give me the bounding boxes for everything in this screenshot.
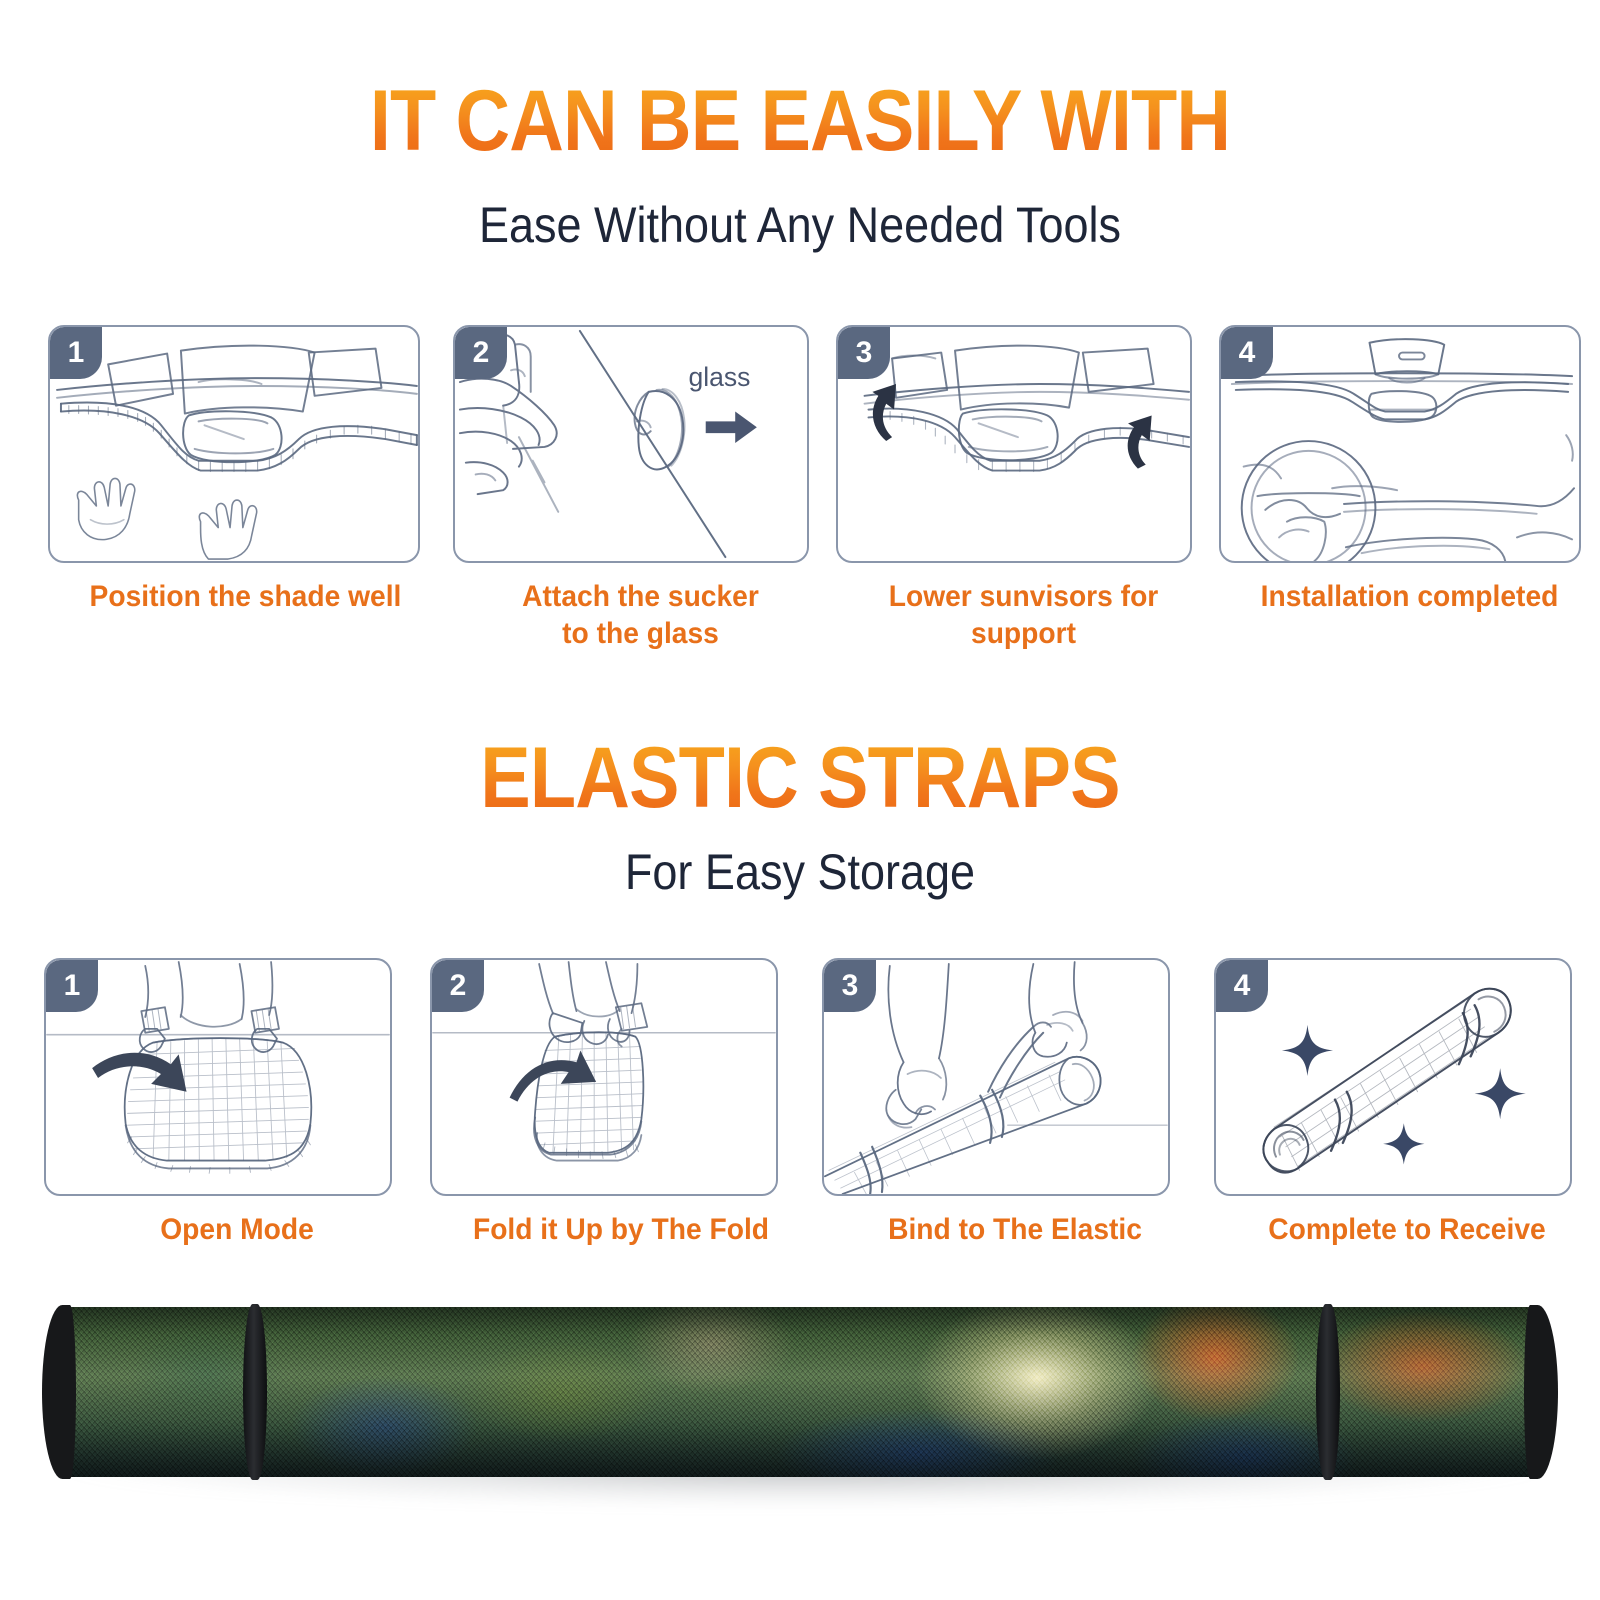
storage-step-3-badge: 3 bbox=[824, 960, 876, 1012]
install-step-4: 4 bbox=[1219, 325, 1600, 652]
storage-step-1-card: 1 bbox=[44, 958, 392, 1196]
installation-steps-row: 1 bbox=[0, 325, 1600, 652]
storage-step-1-caption: Open Mode bbox=[56, 1212, 419, 1249]
install-step-2-caption: Attach the sucker to the glass bbox=[464, 579, 817, 652]
product-elastic-strap-right bbox=[1316, 1304, 1340, 1480]
suction-cup-glass-illustration: glass bbox=[455, 327, 807, 561]
install-step-3-card: 3 bbox=[836, 325, 1192, 563]
storage-step-4: 4 bbox=[1214, 958, 1600, 1249]
storage-steps-row: 1 bbox=[0, 958, 1600, 1249]
storage-subhead: For Easy Storage bbox=[80, 843, 1520, 901]
install-step-3-caption: Lower sunvisors for support bbox=[847, 579, 1200, 652]
open-mode-illustration bbox=[46, 960, 390, 1194]
installation-headline: IT CAN BE EASILY WITH bbox=[96, 78, 1504, 164]
install-step-2-card: 2 bbox=[453, 325, 809, 563]
storage-step-4-caption: Complete to Receive bbox=[1226, 1212, 1589, 1249]
storage-step-4-card: 4 bbox=[1214, 958, 1572, 1196]
install-step-4-caption: Installation completed bbox=[1230, 579, 1588, 616]
fold-up-illustration bbox=[432, 960, 776, 1194]
storage-step-3: 3 bbox=[822, 958, 1208, 1249]
install-step-2: 2 bbox=[453, 325, 828, 652]
install-step-2-badge: 2 bbox=[455, 327, 507, 379]
product-elastic-strap-left bbox=[243, 1304, 267, 1480]
storage-step-2-card: 2 bbox=[430, 958, 778, 1196]
install-step-1: 1 bbox=[48, 325, 443, 652]
install-step-1-caption: Position the shade well bbox=[60, 579, 431, 616]
installation-subhead: Ease Without Any Needed Tools bbox=[80, 196, 1520, 254]
install-step-3-badge: 3 bbox=[838, 327, 890, 379]
install-step-3: 3 bbox=[836, 325, 1211, 652]
storage-step-2: 2 bbox=[430, 958, 812, 1249]
storage-step-4-badge: 4 bbox=[1216, 960, 1268, 1012]
bind-elastic-illustration bbox=[824, 960, 1168, 1194]
storage-step-3-card: 3 bbox=[822, 958, 1170, 1196]
product-end-cap-right bbox=[1524, 1305, 1558, 1479]
install-step-4-card: 4 bbox=[1219, 325, 1581, 563]
storage-step-1-badge: 1 bbox=[46, 960, 98, 1012]
storage-step-2-badge: 2 bbox=[432, 960, 484, 1012]
sunvisor-lowering-illustration bbox=[838, 327, 1190, 561]
install-step-1-badge: 1 bbox=[50, 327, 102, 379]
infographic-page: IT CAN BE EASILY WITH Ease Without Any N… bbox=[0, 0, 1600, 1600]
installed-interior-illustration bbox=[1221, 327, 1579, 561]
product-end-cap-left bbox=[42, 1305, 76, 1479]
storage-headline: ELASTIC STRAPS bbox=[96, 735, 1504, 821]
rolled-sunshade-product-photo bbox=[38, 1307, 1562, 1489]
storage-step-2-caption: Fold it Up by The Fold bbox=[441, 1212, 800, 1249]
install-step-1-card: 1 bbox=[48, 325, 420, 563]
rolled-shade-complete-illustration bbox=[1216, 960, 1570, 1194]
dashboard-shade-illustration bbox=[50, 327, 418, 561]
install-step-4-badge: 4 bbox=[1221, 327, 1273, 379]
storage-step-1: 1 bbox=[44, 958, 430, 1249]
glass-label: glass bbox=[688, 362, 750, 392]
storage-step-3-caption: Bind to The Elastic bbox=[834, 1212, 1197, 1249]
